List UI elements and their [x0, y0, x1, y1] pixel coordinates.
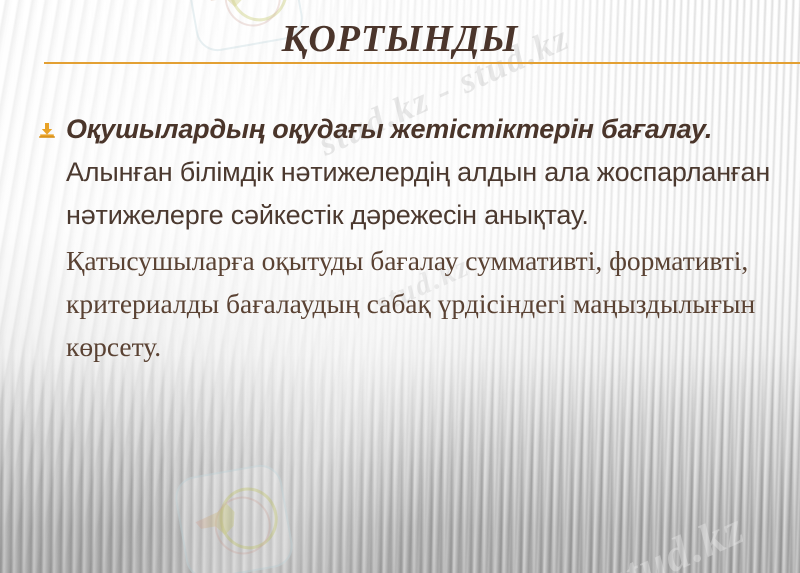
body-paragraph-one: Оқушылардың оқудағы жетістіктерін бағала…	[66, 108, 782, 237]
slide-title-block: ҚОРТЫНДЫ	[0, 20, 800, 64]
watermark-logo-bottom	[172, 461, 296, 573]
slide-title: ҚОРТЫНДЫ	[274, 20, 527, 64]
body-paragraph-one-lead: Оқушылардың оқудағы жетістіктерін бағала…	[66, 114, 712, 144]
bullet-list-item: Оқушылардың оқудағы жетістіктерін бағала…	[36, 108, 782, 237]
down-arrow-bullet-icon	[38, 122, 56, 140]
body-paragraph-one-rest: Алынған білімдік нәтижелердің алдын ала …	[66, 157, 770, 230]
title-underline-rule	[44, 62, 800, 64]
presentation-slide: stud.kz - stud.kz stud.kz stud.kz ҚОРТЫН…	[0, 0, 800, 573]
body-paragraph-two: Қатысушыларға оқытуды бағалау суммативті…	[36, 239, 782, 368]
slide-body: Оқушылардың оқудағы жетістіктерін бағала…	[36, 108, 782, 368]
